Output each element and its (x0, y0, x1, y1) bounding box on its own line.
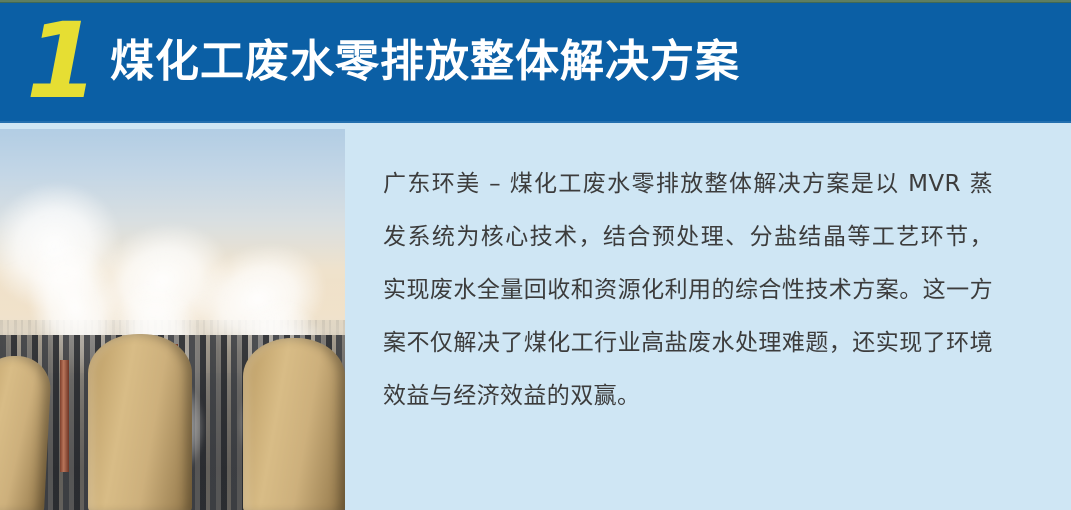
cooling-tower-icon (88, 334, 192, 510)
industrial-cityscape-photo (0, 129, 345, 510)
slide-root: 1 煤化工废水零排放整体解决方案 广东环美 – 煤化工废水零排放整体解决方案是以… (0, 0, 1071, 510)
description-paragraph: 广东环美 – 煤化工废水零排放整体解决方案是以 MVR 蒸发系统为核心技术，结合… (383, 158, 993, 423)
cooling-tower-icon (243, 338, 345, 510)
page-title: 煤化工废水零排放整体解决方案 (110, 26, 740, 98)
cooling-tower-icon (0, 356, 52, 510)
section-number-badge: 1 (26, 8, 96, 114)
smokestack-icon (60, 360, 69, 472)
top-rule-divider (0, 0, 1071, 3)
